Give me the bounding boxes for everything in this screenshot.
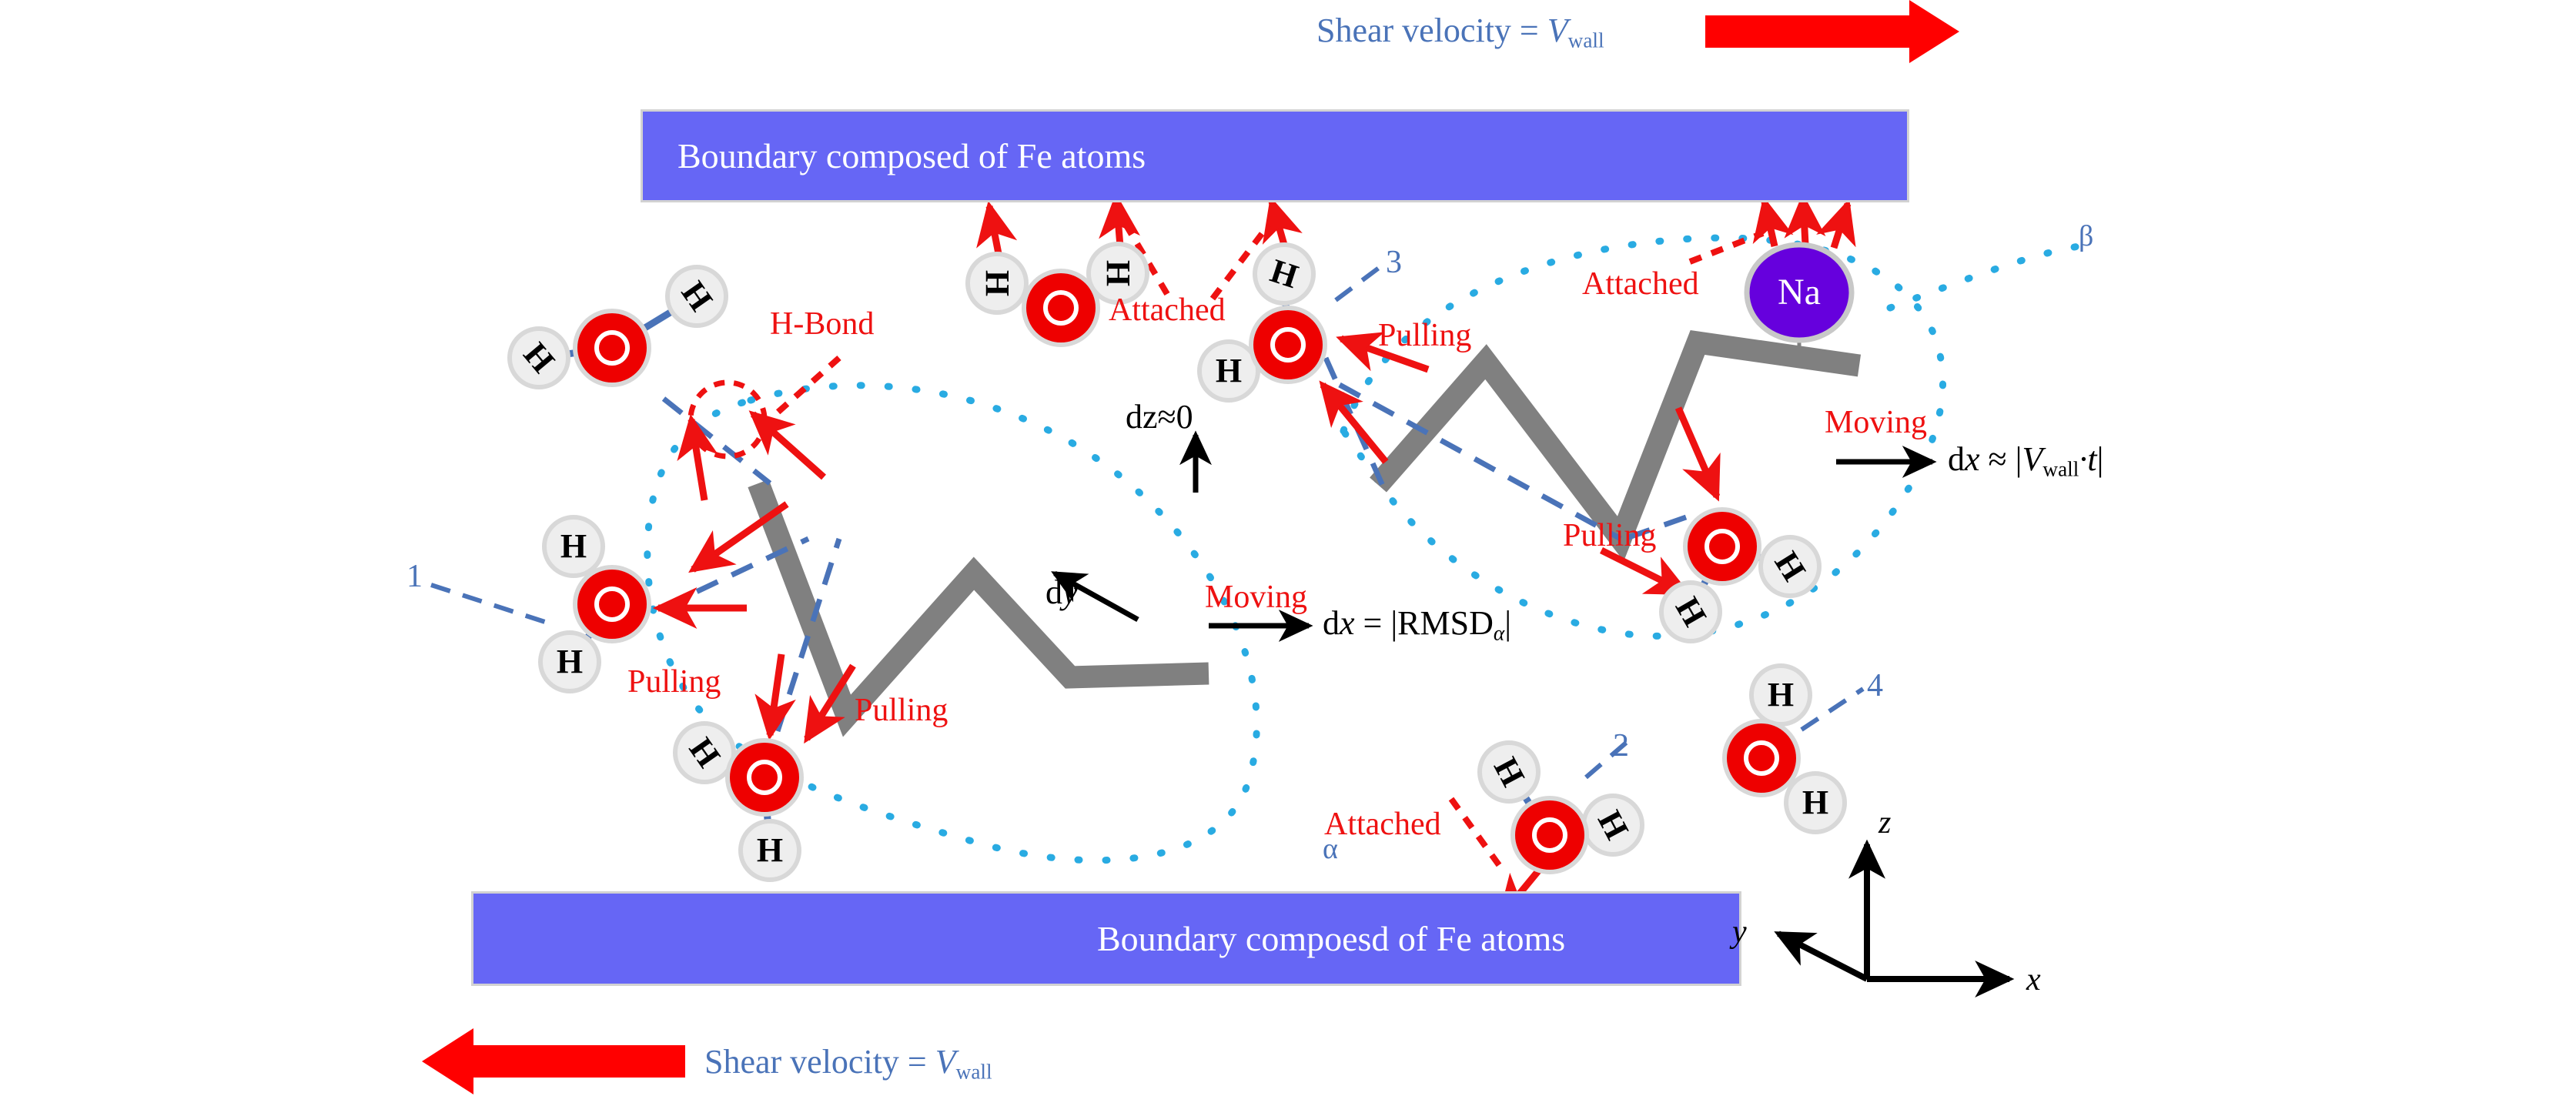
atom-label-h: H — [1768, 678, 1794, 712]
moving-label-alpha: Moving — [1205, 581, 1307, 613]
chain-beta-label: β — [2079, 222, 2093, 251]
top-boundary-label: Boundary composed of Fe atoms — [677, 135, 1146, 176]
attached-label-na: Attached — [1582, 268, 1699, 300]
attach-arrow-3 — [1272, 202, 1284, 245]
axis-y-arrow — [1778, 934, 1867, 979]
pulling-label-4: Pulling — [1563, 520, 1656, 552]
moving-label-beta: Moving — [1825, 406, 1927, 439]
atom-label-h: H — [1802, 786, 1828, 820]
top-boundary-wall: Boundary composed of Fe atoms — [641, 109, 1909, 202]
attached-leader-na — [1690, 233, 1763, 262]
molecule-label-2: 2 — [1613, 730, 1629, 762]
axis-label-y: y — [1732, 916, 1747, 948]
dz-label: dz≈0 — [1126, 400, 1193, 434]
pulling-label-3: Pulling — [1378, 319, 1471, 352]
atom-label-h: H — [1101, 260, 1135, 286]
shear-velocity-bottom-label: Shear velocity = Vwall — [704, 1045, 992, 1083]
atoms — [510, 244, 1852, 880]
h-bond-leader — [758, 358, 839, 429]
h-bond-label: H-Bond — [770, 308, 874, 340]
molecule-label-3: 3 — [1386, 246, 1402, 279]
atom-label-h: H — [557, 645, 583, 679]
atom-label-h: H — [1216, 354, 1242, 388]
hbond-arrow-right — [753, 414, 824, 477]
dx-alpha-label: dx = |RMSDα| — [1323, 606, 1511, 644]
dy-label: dy — [1045, 576, 1078, 610]
pulling-label-1: Pulling — [627, 666, 721, 698]
attached-label-top: Attached — [1109, 294, 1226, 326]
shear-velocity-top-label: Shear velocity = Vwall — [1316, 14, 1604, 52]
atom-label-h: H — [560, 530, 587, 563]
pulling-label-2: Pulling — [855, 694, 948, 727]
sodium-ion-label: Na — [1778, 274, 1821, 311]
bottom-boundary-label: Boundary compoesd of Fe atoms — [1097, 918, 1565, 959]
contour-beta-tail — [1890, 246, 2079, 308]
shear-arrow-bottom — [422, 1028, 685, 1094]
leader-line-3 — [1336, 266, 1382, 300]
diagram-canvas: Boundary composed of Fe atoms Boundary c… — [0, 0, 2576, 1106]
na-attach-arrow-2 — [1803, 199, 1805, 245]
atom-label-h: H — [757, 834, 783, 867]
h-bond-circle — [691, 383, 764, 456]
molecule-label-1: 1 — [406, 560, 423, 593]
na-attach-arrow-1 — [1765, 202, 1775, 246]
attach-arrow-2 — [1116, 199, 1120, 246]
leader-line-1 — [431, 585, 554, 625]
axis-label-z: z — [1878, 807, 1891, 839]
attached-label-bottom: Attached — [1324, 808, 1441, 840]
na-attach-arrow-3 — [1834, 204, 1848, 248]
polymer-chain-beta — [1378, 342, 1859, 539]
pulling-arrow-7 — [1678, 408, 1717, 496]
shear-arrow-top — [1705, 0, 1959, 63]
polymer-chain-alpha — [758, 483, 1209, 716]
molecule-label-4: 4 — [1867, 670, 1883, 702]
axis-label-x: x — [2026, 964, 2041, 996]
attached-leader-bottom — [1451, 799, 1501, 868]
pulling-arrow-6 — [1323, 385, 1386, 462]
dx-beta-label: dx ≈ |Vwall·t| — [1948, 443, 2103, 480]
atom-label-h: H — [980, 270, 1014, 296]
bottom-boundary-wall: Boundary compoesd of Fe atoms — [471, 891, 1741, 986]
